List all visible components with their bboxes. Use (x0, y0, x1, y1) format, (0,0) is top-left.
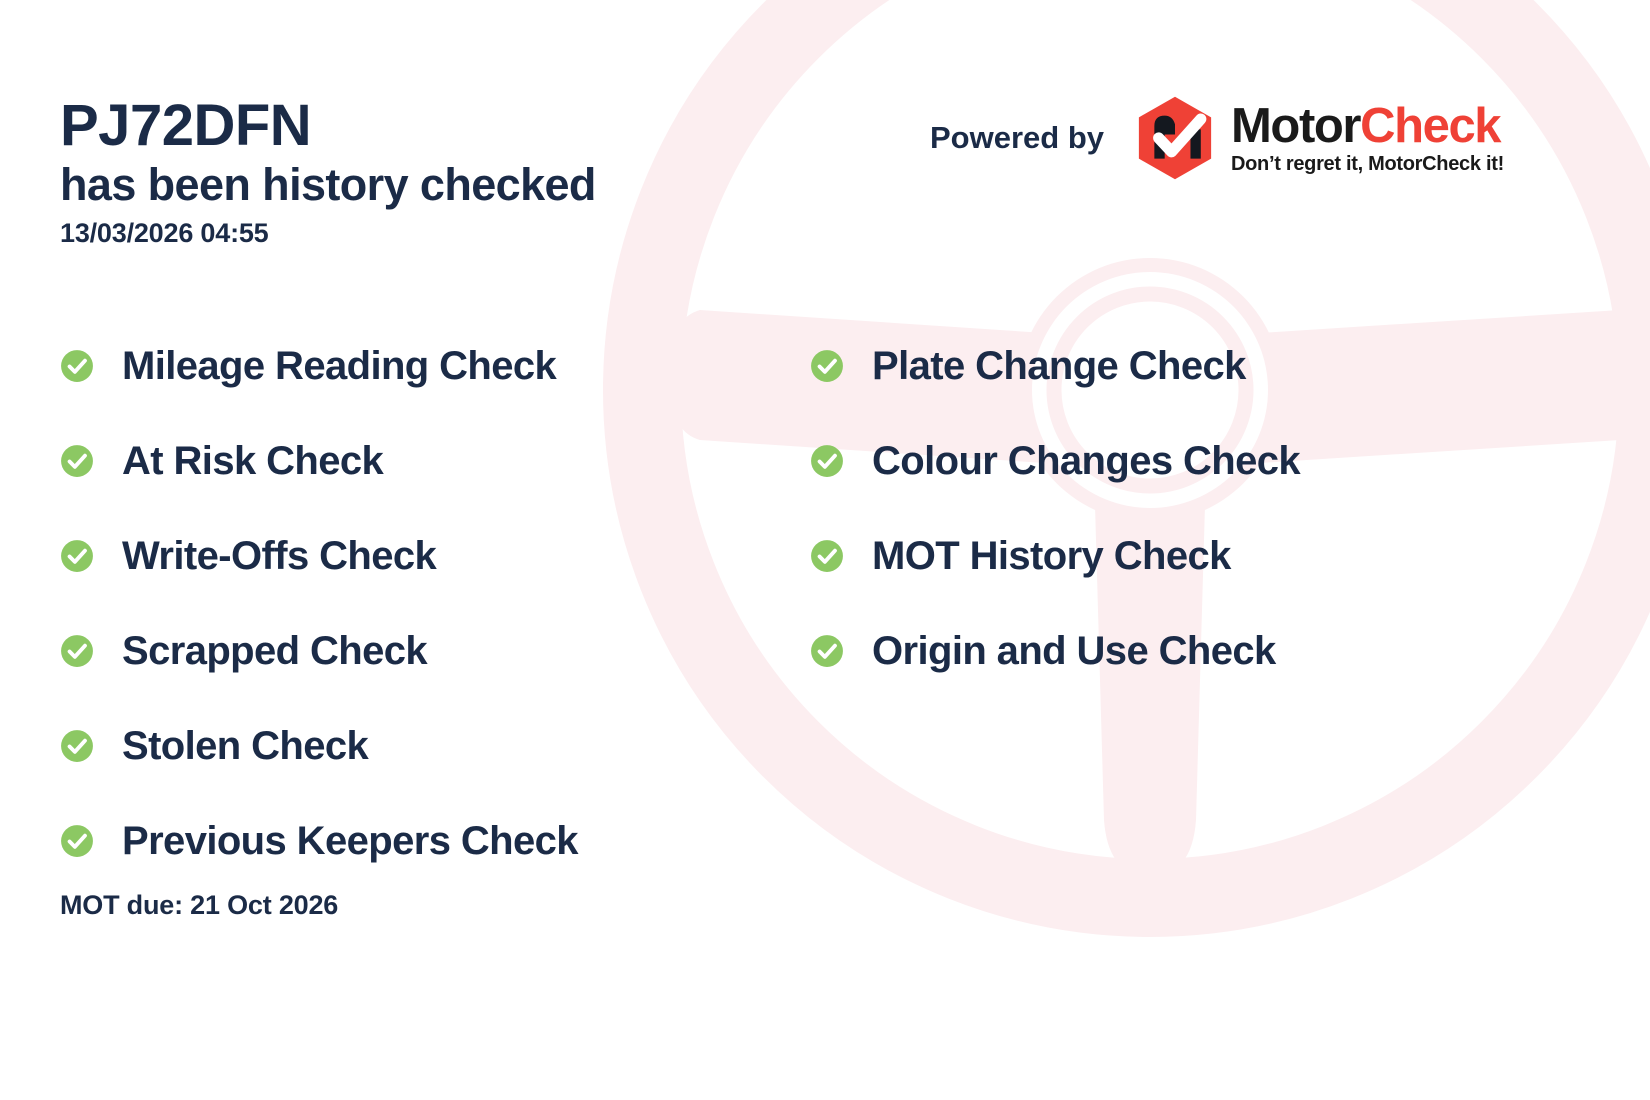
list-item: Origin and Use Check (810, 603, 1560, 698)
list-item: Mileage Reading Check (60, 318, 810, 413)
mot-due-text: MOT due: 21 Oct 2026 (60, 890, 338, 921)
checks-grid: Mileage Reading Check At Risk Check Writ… (60, 318, 1580, 888)
list-item: At Risk Check (60, 413, 810, 508)
registration-plate: PJ72DFN (60, 95, 596, 158)
check-label: Origin and Use Check (872, 631, 1276, 671)
check-circle-icon (810, 349, 844, 383)
check-label: MOT History Check (872, 536, 1231, 576)
check-timestamp: 13/03/2026 04:55 (60, 218, 596, 249)
motorcheck-wordmark: MotorCheck Don’t regret it, MotorCheck i… (1231, 102, 1504, 174)
list-item: Previous Keepers Check (60, 793, 810, 888)
brand-name-check: Check (1360, 99, 1500, 153)
motorcheck-hexagon-logo-icon (1132, 95, 1218, 181)
powered-by-label: Powered by (930, 120, 1104, 156)
list-item: MOT History Check (810, 508, 1560, 603)
brand-name: MotorCheck (1231, 102, 1504, 151)
brand-name-motor: Motor (1231, 99, 1360, 153)
check-label: Colour Changes Check (872, 441, 1300, 481)
check-circle-icon (810, 539, 844, 573)
list-item: Stolen Check (60, 698, 810, 793)
card-header: PJ72DFN has been history checked 13/03/2… (60, 95, 596, 249)
check-circle-icon (810, 634, 844, 668)
check-label: Mileage Reading Check (122, 346, 556, 386)
list-item: Colour Changes Check (810, 413, 1560, 508)
check-circle-icon (60, 729, 94, 763)
check-circle-icon (60, 634, 94, 668)
brand-tagline: Don’t regret it, MotorCheck it! (1231, 154, 1504, 174)
list-item: Write-Offs Check (60, 508, 810, 603)
list-item: Plate Change Check (810, 318, 1560, 413)
check-label: Write-Offs Check (122, 536, 436, 576)
vehicle-history-check-card: PJ72DFN has been history checked 13/03/2… (0, 0, 1650, 1100)
check-circle-icon (60, 539, 94, 573)
checks-right-column: Plate Change Check Colour Changes Check … (810, 318, 1560, 888)
check-label: Plate Change Check (872, 346, 1246, 386)
list-item: Scrapped Check (60, 603, 810, 698)
checks-left-column: Mileage Reading Check At Risk Check Writ… (60, 318, 810, 888)
check-label: Previous Keepers Check (122, 821, 578, 861)
powered-by-block: Powered by MotorCheck Don’t regret it, M… (930, 95, 1504, 181)
check-circle-icon (60, 824, 94, 858)
check-circle-icon (60, 349, 94, 383)
check-label: At Risk Check (122, 441, 383, 481)
check-label: Stolen Check (122, 726, 368, 766)
header-subtitle: has been history checked (60, 158, 596, 211)
check-circle-icon (810, 444, 844, 478)
check-circle-icon (60, 444, 94, 478)
check-label: Scrapped Check (122, 631, 427, 671)
